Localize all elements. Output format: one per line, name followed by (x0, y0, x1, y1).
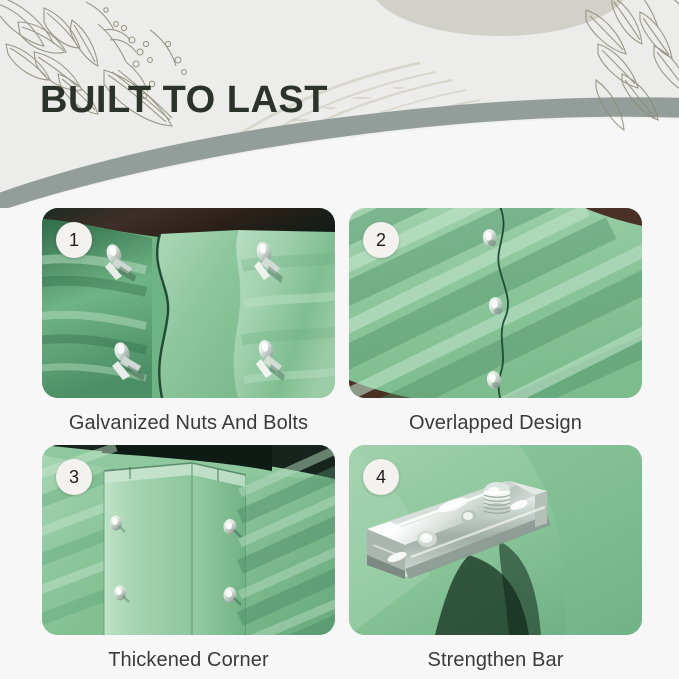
feature-infographic-page: BUILT TO LAST (0, 0, 679, 679)
header-banner: BUILT TO LAST (0, 0, 679, 208)
feature-caption-3: Thickened Corner (42, 649, 335, 672)
feature-number-2: 2 (376, 230, 386, 251)
corner-post-front (104, 463, 192, 635)
feature-number-badge-4: 4 (363, 459, 399, 495)
feature-number-badge-3: 3 (56, 459, 92, 495)
feature-number-3: 3 (69, 467, 79, 488)
feature-number-badge-2: 2 (363, 222, 399, 258)
feature-number-badge-1: 1 (56, 222, 92, 258)
feature-number-4: 4 (376, 467, 386, 488)
feature-photo-3: 3 (42, 445, 335, 635)
feature-photo-4: 4 (349, 445, 642, 635)
feature-number-1: 1 (69, 230, 79, 251)
feature-card-1[interactable]: 1 Galvanized Nuts And Bolts (42, 208, 335, 435)
feature-photo-2: 2 (349, 208, 642, 398)
feature-photo-1: 1 (42, 208, 335, 398)
feature-caption-4: Strengthen Bar (349, 649, 642, 672)
threaded-bolt (484, 482, 510, 519)
page-title: BUILT TO LAST (40, 79, 328, 122)
feature-card-2[interactable]: 2 Overlapped Design (349, 208, 642, 435)
feature-card-3[interactable]: 3 Thickened Corner (42, 445, 335, 672)
feature-grid: 1 Galvanized Nuts And Bolts (0, 206, 679, 679)
feature-caption-2: Overlapped Design (349, 412, 642, 435)
feature-caption-1: Galvanized Nuts And Bolts (42, 412, 335, 435)
corner-post-side (192, 463, 246, 635)
feature-card-4[interactable]: 4 Strengthen Bar (349, 445, 642, 672)
